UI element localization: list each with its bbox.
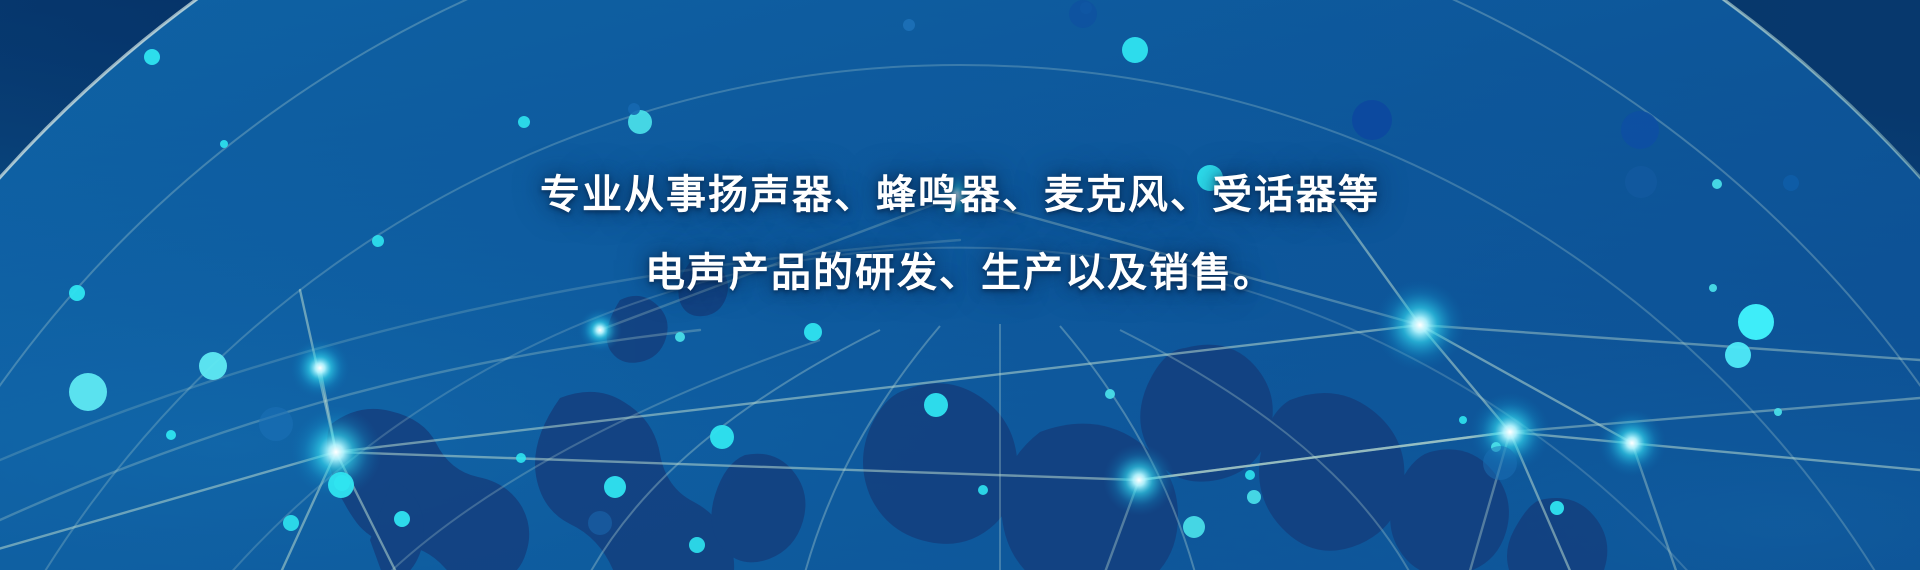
particle-dot (328, 472, 354, 498)
particle-dot (1122, 37, 1148, 63)
particle-dot (903, 19, 915, 31)
particle-dot (710, 425, 734, 449)
particle-dot (1738, 304, 1774, 340)
particle-dot (604, 476, 626, 498)
particle-dot (166, 430, 176, 440)
particle-dot (1352, 100, 1392, 140)
particle-dot (1709, 284, 1717, 292)
particle-dot (675, 332, 685, 342)
particle-dot (1459, 416, 1467, 424)
particle-dot (1197, 165, 1223, 191)
particle-dot (924, 393, 948, 417)
particle-dot (1625, 166, 1657, 198)
globe-sphere (0, 0, 1920, 570)
particle-dot (199, 352, 227, 380)
particle-dot (1290, 184, 1306, 200)
particle-dot (1183, 516, 1205, 538)
particle-dot (1621, 111, 1659, 149)
particle-dot (518, 116, 530, 128)
particle-dot (1774, 408, 1782, 416)
particle-dot (1550, 501, 1564, 515)
particle-dot (1783, 175, 1799, 191)
particle-dot (516, 453, 526, 463)
particle-dot (259, 407, 293, 441)
particle-dot (1725, 342, 1751, 368)
particle-dot (1069, 0, 1097, 28)
particle-dot (1483, 446, 1517, 480)
banner-background-graphic (0, 0, 1920, 570)
particle-dot (283, 515, 299, 531)
hero-banner: 专业从事扬声器、蜂鸣器、麦克风、受话器等 电声产品的研发、生产以及销售。 (0, 0, 1920, 570)
particle-dot (220, 140, 228, 148)
particle-dot (628, 103, 640, 115)
particle-dot (144, 49, 160, 65)
particle-dot (372, 235, 384, 247)
particle-dot (978, 485, 988, 495)
particle-dot (588, 511, 612, 535)
particle-dot (804, 323, 822, 341)
particle-dot (689, 537, 705, 553)
particle-dot (1245, 470, 1255, 480)
particle-dot (394, 511, 410, 527)
particle-dot (1105, 389, 1115, 399)
particle-dot (69, 285, 85, 301)
particle-dot (1712, 179, 1722, 189)
particle-dot (1247, 490, 1261, 504)
particle-dot (69, 373, 107, 411)
